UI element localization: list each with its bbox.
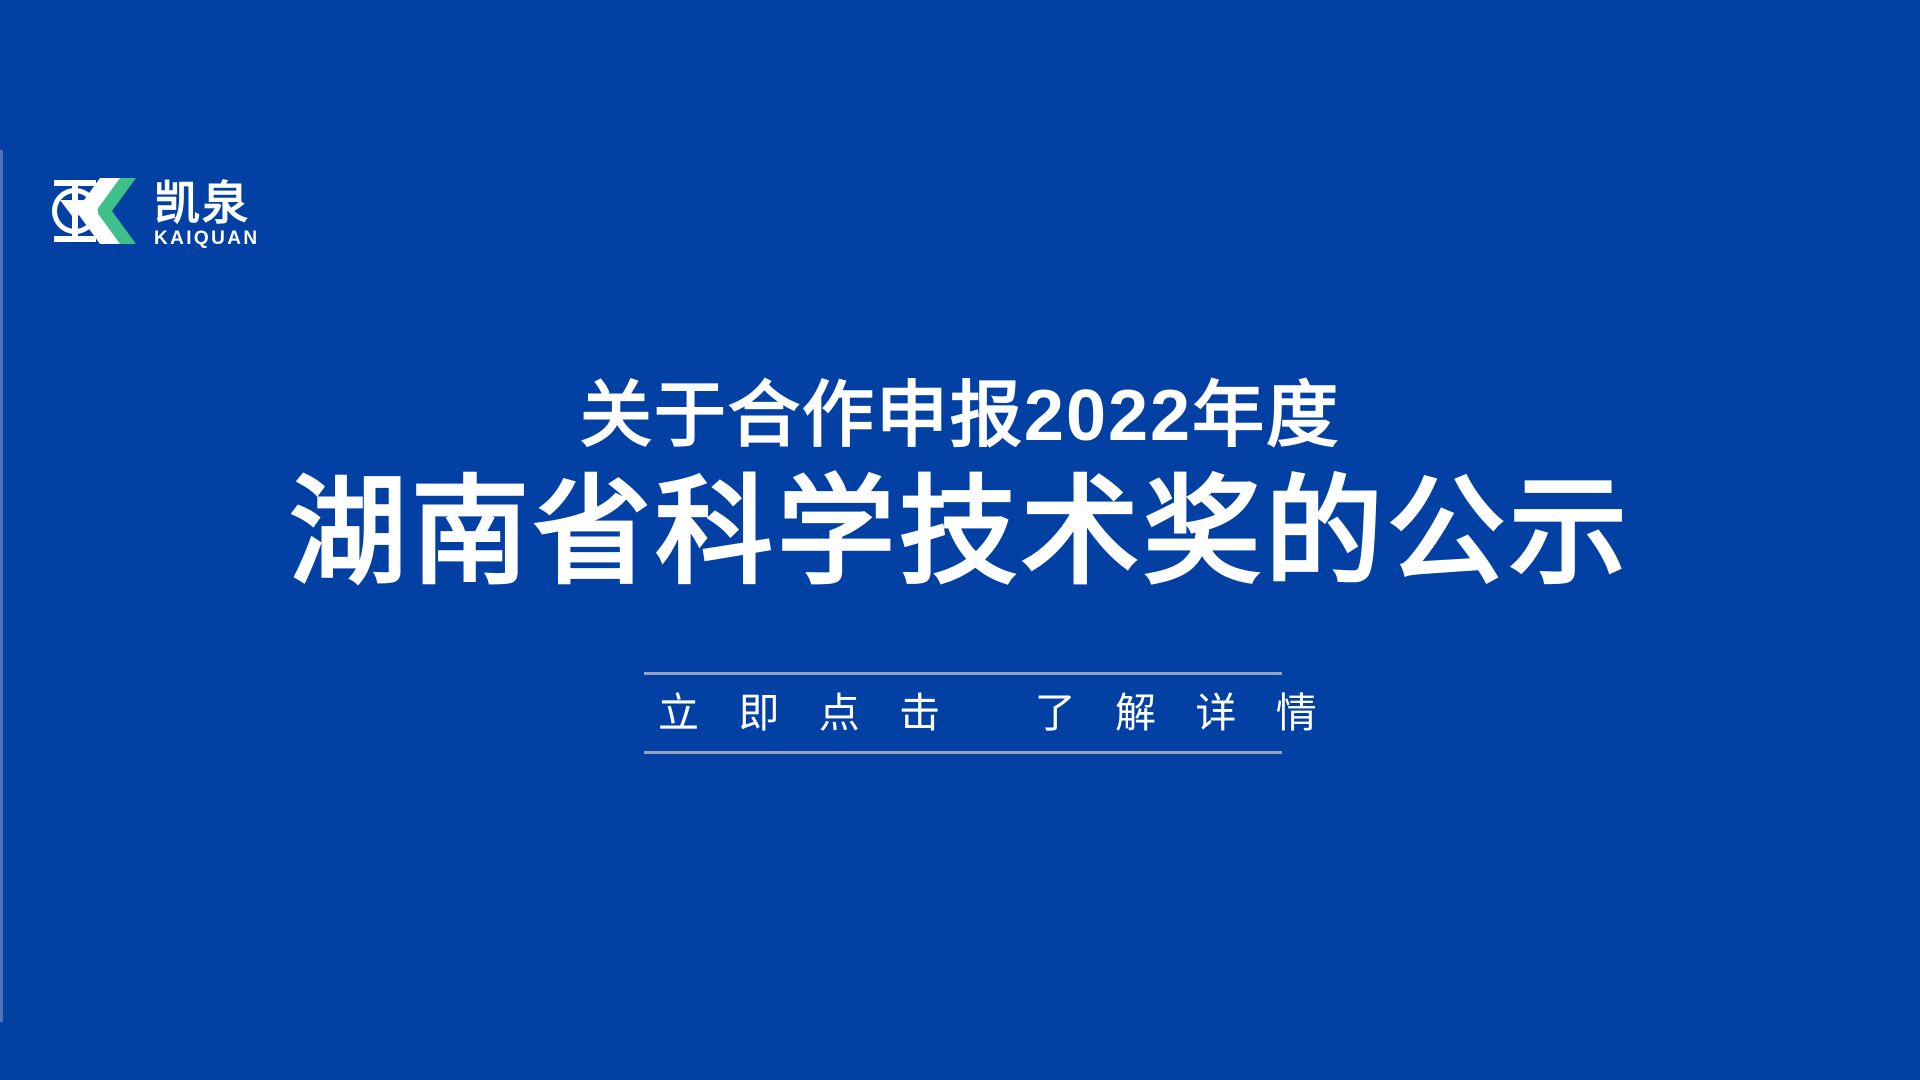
brand-name-cn: 凯泉	[154, 179, 250, 227]
poster-canvas: 凯泉 KAIQUAN 关于合作申报2022年度 湖南省科学技术奖的公示 立 即 …	[0, 0, 1920, 1080]
brand-logo[interactable]: 凯泉 KAIQUAN	[44, 178, 259, 249]
headline-block: 关于合作申报2022年度 湖南省科学技术奖的公示	[0, 370, 1920, 602]
brand-name-en: KAIQUAN	[154, 229, 259, 249]
headline-line-2: 湖南省科学技术奖的公示	[0, 464, 1920, 602]
cta-label[interactable]: 立 即 点 击 了 解 详 情	[644, 675, 1282, 751]
cta-block[interactable]: 立 即 点 击 了 解 详 情	[644, 672, 1282, 754]
brand-wordmark: 凯泉 KAIQUAN	[154, 178, 259, 249]
headline-line-1: 关于合作申报2022年度	[0, 370, 1920, 462]
cta-rule-bottom	[644, 751, 1282, 754]
kaiquan-monogram-icon	[44, 178, 136, 244]
